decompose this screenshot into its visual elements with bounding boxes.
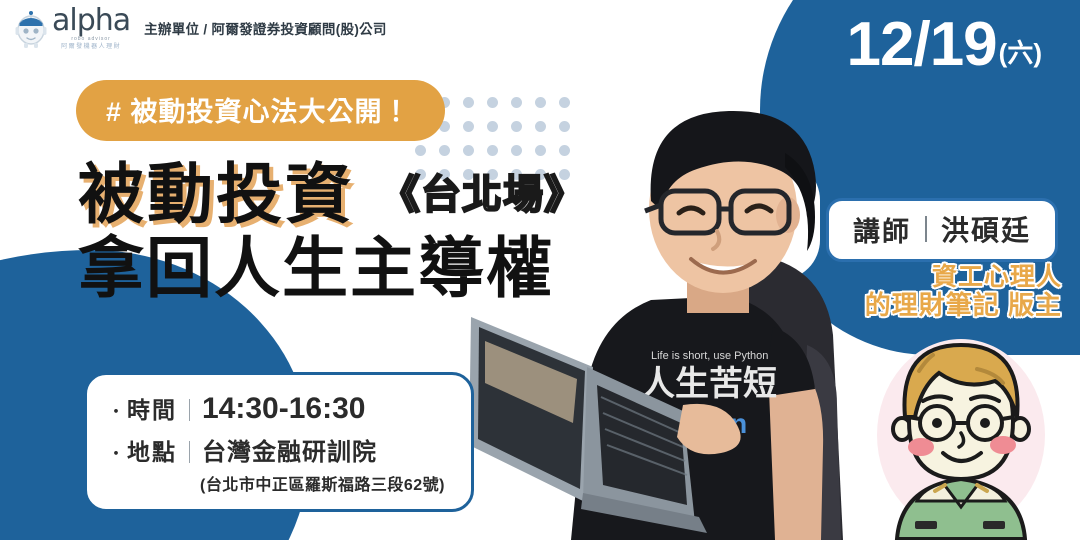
speaker-blog-credit: 資工心理人 的理財筆記 版主: [865, 264, 1062, 319]
time-divider: [189, 399, 190, 421]
organizer-text: 主辦單位 / 阿爾發證券投資顧問(股)公司: [144, 18, 387, 38]
svg-text:Life is short, use Python: Life is short, use Python: [651, 350, 768, 362]
page-title: 被動投資 《台北場》 拿回人生主導權: [78, 158, 585, 306]
time-bullet-icon: ・: [107, 398, 125, 424]
info-row-place: ・ 地點 台灣金融研訓院: [107, 432, 451, 467]
speaker-divider: [925, 216, 927, 242]
place-bullet-icon: ・: [107, 440, 125, 466]
brand-tagline-zh: 阿爾發機器人理財: [61, 44, 121, 50]
info-row-time: ・ 時間 14:30-16:30: [107, 391, 451, 426]
brand-name: alpha: [52, 6, 130, 36]
cartoon-avatar: [857, 325, 1062, 540]
speaker-badge: 講師 洪碩廷: [826, 198, 1058, 262]
hashtag-badge: # 被動投資心法大公開！: [76, 80, 445, 141]
event-date-badge: 12/19 (六): [847, 14, 1042, 76]
blog-credit-line-1: 資工心理人: [865, 264, 1062, 291]
headline-line-1: 被動投資: [78, 158, 354, 232]
robot-logo-icon: [14, 8, 48, 48]
headline-venue: 《台北場》: [380, 162, 585, 220]
event-info-card: ・ 時間 14:30-16:30 ・ 地點 台灣金融研訓院 (台北市中正區羅斯福…: [84, 372, 474, 512]
time-label: 時間: [127, 391, 177, 425]
event-weekday: (六): [999, 33, 1042, 70]
speaker-role-label: 講師: [853, 210, 911, 249]
headline-line-2: 拿回人生主導權: [78, 232, 585, 306]
blog-credit-line-2: 的理財筆記 版主: [865, 291, 1062, 319]
venue-address: (台北市中正區羅斯福路三段62號): [107, 471, 451, 495]
event-banner: Life is short, use Python 人生苦短 用 ython: [0, 0, 1080, 540]
time-value: 14:30-16:30: [202, 392, 365, 426]
brand-wordmark: alpha robo advisor 阿爾發機器人理財: [52, 6, 130, 50]
header-brand: alpha robo advisor 阿爾發機器人理財 主辦單位 / 阿爾發證券…: [14, 6, 387, 50]
place-divider: [189, 441, 190, 463]
svg-text:人生苦短: 人生苦短: [641, 365, 777, 403]
place-label: 地點: [127, 433, 177, 467]
place-value: 台灣金融研訓院: [202, 432, 377, 467]
brand-tagline-en: robo advisor: [71, 37, 111, 42]
speaker-name: 洪碩廷: [941, 209, 1031, 249]
event-date: 12/19: [847, 14, 997, 76]
